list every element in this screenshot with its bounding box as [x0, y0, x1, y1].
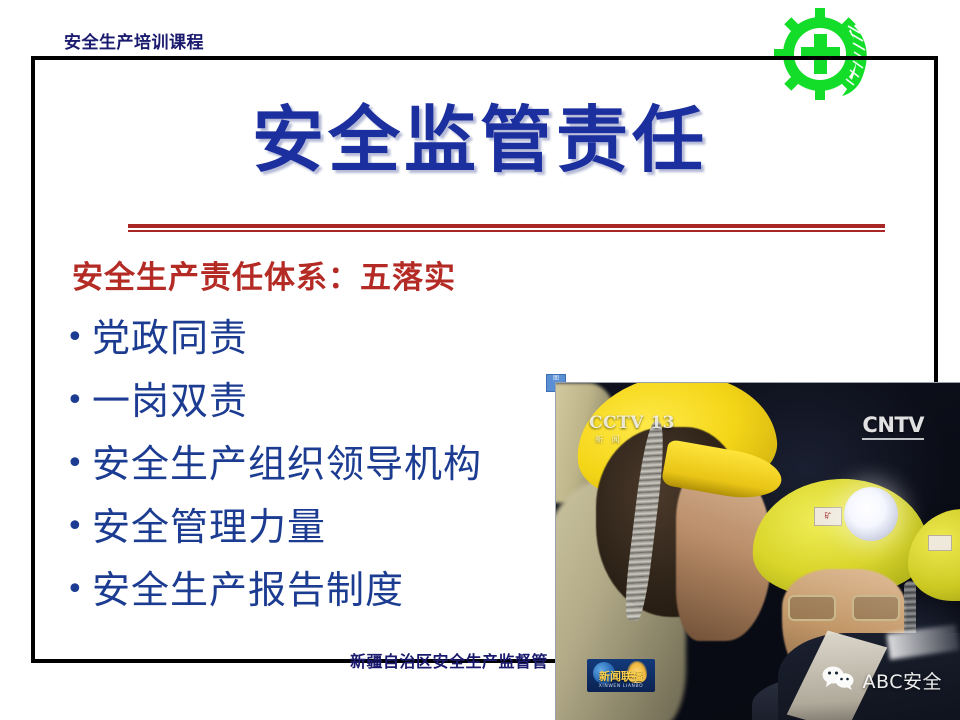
- list-item-label: 安全生产组织领导机构: [92, 445, 482, 483]
- list-item-label: 一岗双责: [92, 382, 248, 420]
- broadcaster-bug-sublabel: 新 闻: [595, 434, 675, 445]
- bullet-point-icon: •: [62, 575, 92, 605]
- divider-line-thick: [128, 224, 885, 228]
- wechat-watermark-label: ABC安全: [863, 667, 942, 694]
- section-subtitle: 安全生产责任体系：五落实: [72, 252, 456, 297]
- news-program-badge-label: 新闻联播: [587, 668, 655, 684]
- bullet-list: • 党政同责 • 一岗双责 • 安全生产组织领导机构 • 安全管理力量 • 安全…: [62, 306, 622, 621]
- list-item: • 安全生产报告制度: [62, 558, 622, 621]
- photo-eyeglasses-icon: [788, 595, 900, 617]
- bullet-point-icon: •: [62, 449, 92, 479]
- broadcaster-bug-label: CCTV 13: [589, 413, 675, 433]
- slide-header-title: 安全生产培训课程: [64, 28, 204, 53]
- list-item-label: 安全管理力量: [92, 508, 326, 546]
- presentation-slide: 安全生产培训课程: [0, 0, 960, 720]
- network-bug: CNTV: [862, 413, 924, 440]
- slide-footer-text: 新疆自治区安全生产监督管: [350, 648, 548, 672]
- photo-head-lamp-icon: [844, 487, 898, 541]
- list-item-label: 党政同责: [92, 319, 248, 357]
- list-item: • 党政同责: [62, 306, 622, 369]
- photo-helmet-tag-right: [928, 535, 952, 551]
- bullet-point-icon: •: [62, 386, 92, 416]
- bullet-point-icon: •: [62, 323, 92, 353]
- news-program-badge-sublabel: XINWEN LIANBO: [587, 684, 655, 689]
- page-title: 安全监管责任: [0, 104, 960, 176]
- list-item-label: 安全生产报告制度: [92, 571, 404, 609]
- bullet-point-icon: •: [62, 512, 92, 542]
- news-photo-overlay: 矿 CCTV 13 新 闻 CNTV 新闻联播 XINWEN LIANBO: [555, 382, 960, 720]
- list-item: • 安全管理力量: [62, 495, 622, 558]
- list-item: • 安全生产组织领导机构: [62, 432, 622, 495]
- wechat-watermark: ABC安全: [822, 666, 942, 694]
- title-divider: [128, 224, 885, 233]
- news-program-badge: 新闻联播 XINWEN LIANBO: [587, 659, 655, 692]
- photo-helmet-tag-center: 矿: [814, 507, 842, 526]
- divider-line-thin: [128, 230, 885, 232]
- wechat-icon: [822, 666, 856, 694]
- list-item: • 一岗双责: [62, 369, 622, 432]
- broadcaster-bug: CCTV 13 新 闻: [589, 413, 675, 445]
